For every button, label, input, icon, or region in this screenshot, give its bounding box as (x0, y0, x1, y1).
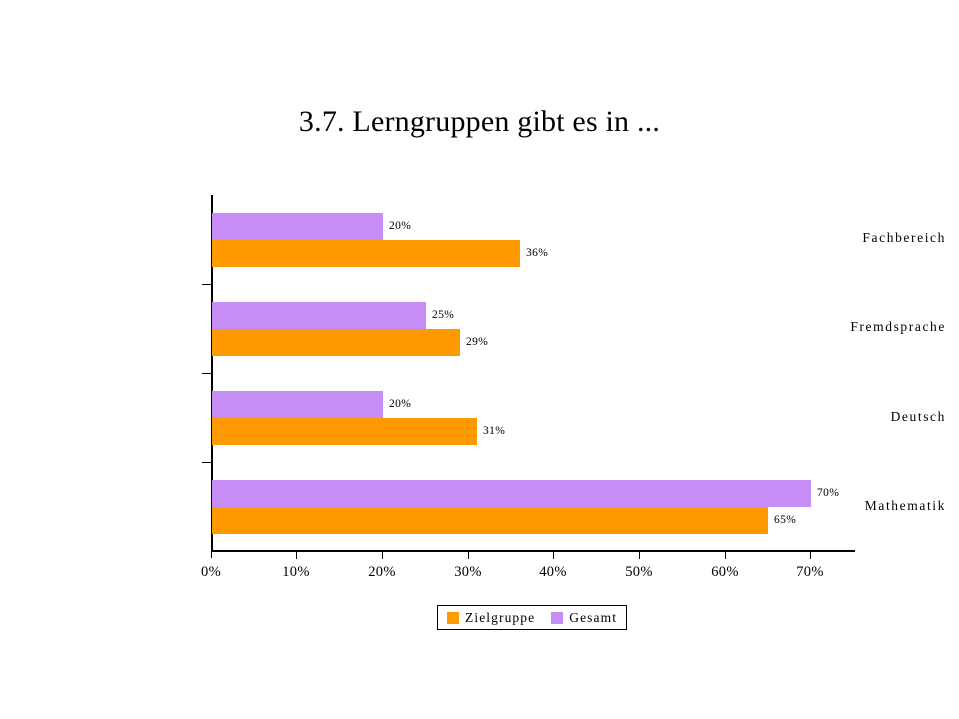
chart-legend: Zielgruppe Gesamt (437, 605, 627, 630)
x-axis-tick-5 (639, 552, 640, 559)
category-label-fremdsprache: Fremdsprache (759, 319, 959, 335)
bar-value-gesamt-fremdsprache: 25% (432, 308, 454, 322)
legend-label-zielgruppe: Zielgruppe (465, 610, 535, 626)
category-label-deutsch: Deutsch (759, 409, 959, 425)
x-axis-tick-1 (296, 552, 297, 559)
x-axis-tick-7 (810, 552, 811, 559)
category-label-fachbereich: Fachbereich (759, 230, 959, 246)
x-axis-tick-4 (553, 552, 554, 559)
x-axis-tick-6 (725, 552, 726, 559)
y-axis-tick (202, 373, 211, 374)
bar-zielgruppe-fachbereich[interactable] (212, 240, 520, 267)
bar-value-zielgruppe-mathematik: 65% (774, 513, 796, 527)
x-axis-label-6: 60% (695, 563, 755, 581)
legend-entry-zielgruppe[interactable]: Zielgruppe (447, 610, 535, 626)
y-axis-tick (202, 462, 211, 463)
x-axis-label-1: 10% (266, 563, 326, 581)
bar-gesamt-fremdsprache[interactable] (212, 302, 426, 329)
chart-title: 3.7. Lerngruppen gibt es in ... (0, 103, 959, 141)
bar-value-gesamt-deutsch: 20% (389, 397, 411, 411)
bar-zielgruppe-mathematik[interactable] (212, 507, 768, 534)
bar-gesamt-mathematik[interactable] (212, 480, 811, 507)
bar-zielgruppe-deutsch[interactable] (212, 418, 477, 445)
bar-zielgruppe-fremdsprache[interactable] (212, 329, 460, 356)
bar-value-zielgruppe-deutsch: 31% (483, 424, 505, 438)
x-axis-tick-0 (211, 544, 212, 558)
legend-swatch-icon-gesamt (551, 612, 563, 624)
legend-label-gesamt: Gesamt (569, 610, 617, 626)
x-axis-label-5: 50% (609, 563, 669, 581)
x-axis-line (211, 550, 855, 552)
bar-gesamt-fachbereich[interactable] (212, 213, 383, 240)
x-axis-label-2: 20% (352, 563, 412, 581)
bar-value-zielgruppe-fachbereich: 36% (526, 246, 548, 260)
x-axis-label-3: 30% (438, 563, 498, 581)
chart-container: 3.7. Lerngruppen gibt es in ... 0% 10% 2… (0, 0, 959, 719)
legend-swatch-icon-zielgruppe (447, 612, 459, 624)
x-axis-label-4: 40% (523, 563, 583, 581)
x-axis-tick-2 (382, 552, 383, 559)
bar-value-gesamt-fachbereich: 20% (389, 219, 411, 233)
x-axis-label-0: 0% (181, 563, 241, 581)
y-axis-tick (202, 284, 211, 285)
x-axis-tick-3 (468, 552, 469, 559)
legend-entry-gesamt[interactable]: Gesamt (551, 610, 617, 626)
x-axis-label-7: 70% (780, 563, 840, 581)
bar-gesamt-deutsch[interactable] (212, 391, 383, 418)
bar-value-zielgruppe-fremdsprache: 29% (466, 335, 488, 349)
bar-value-gesamt-mathematik: 70% (817, 486, 839, 500)
